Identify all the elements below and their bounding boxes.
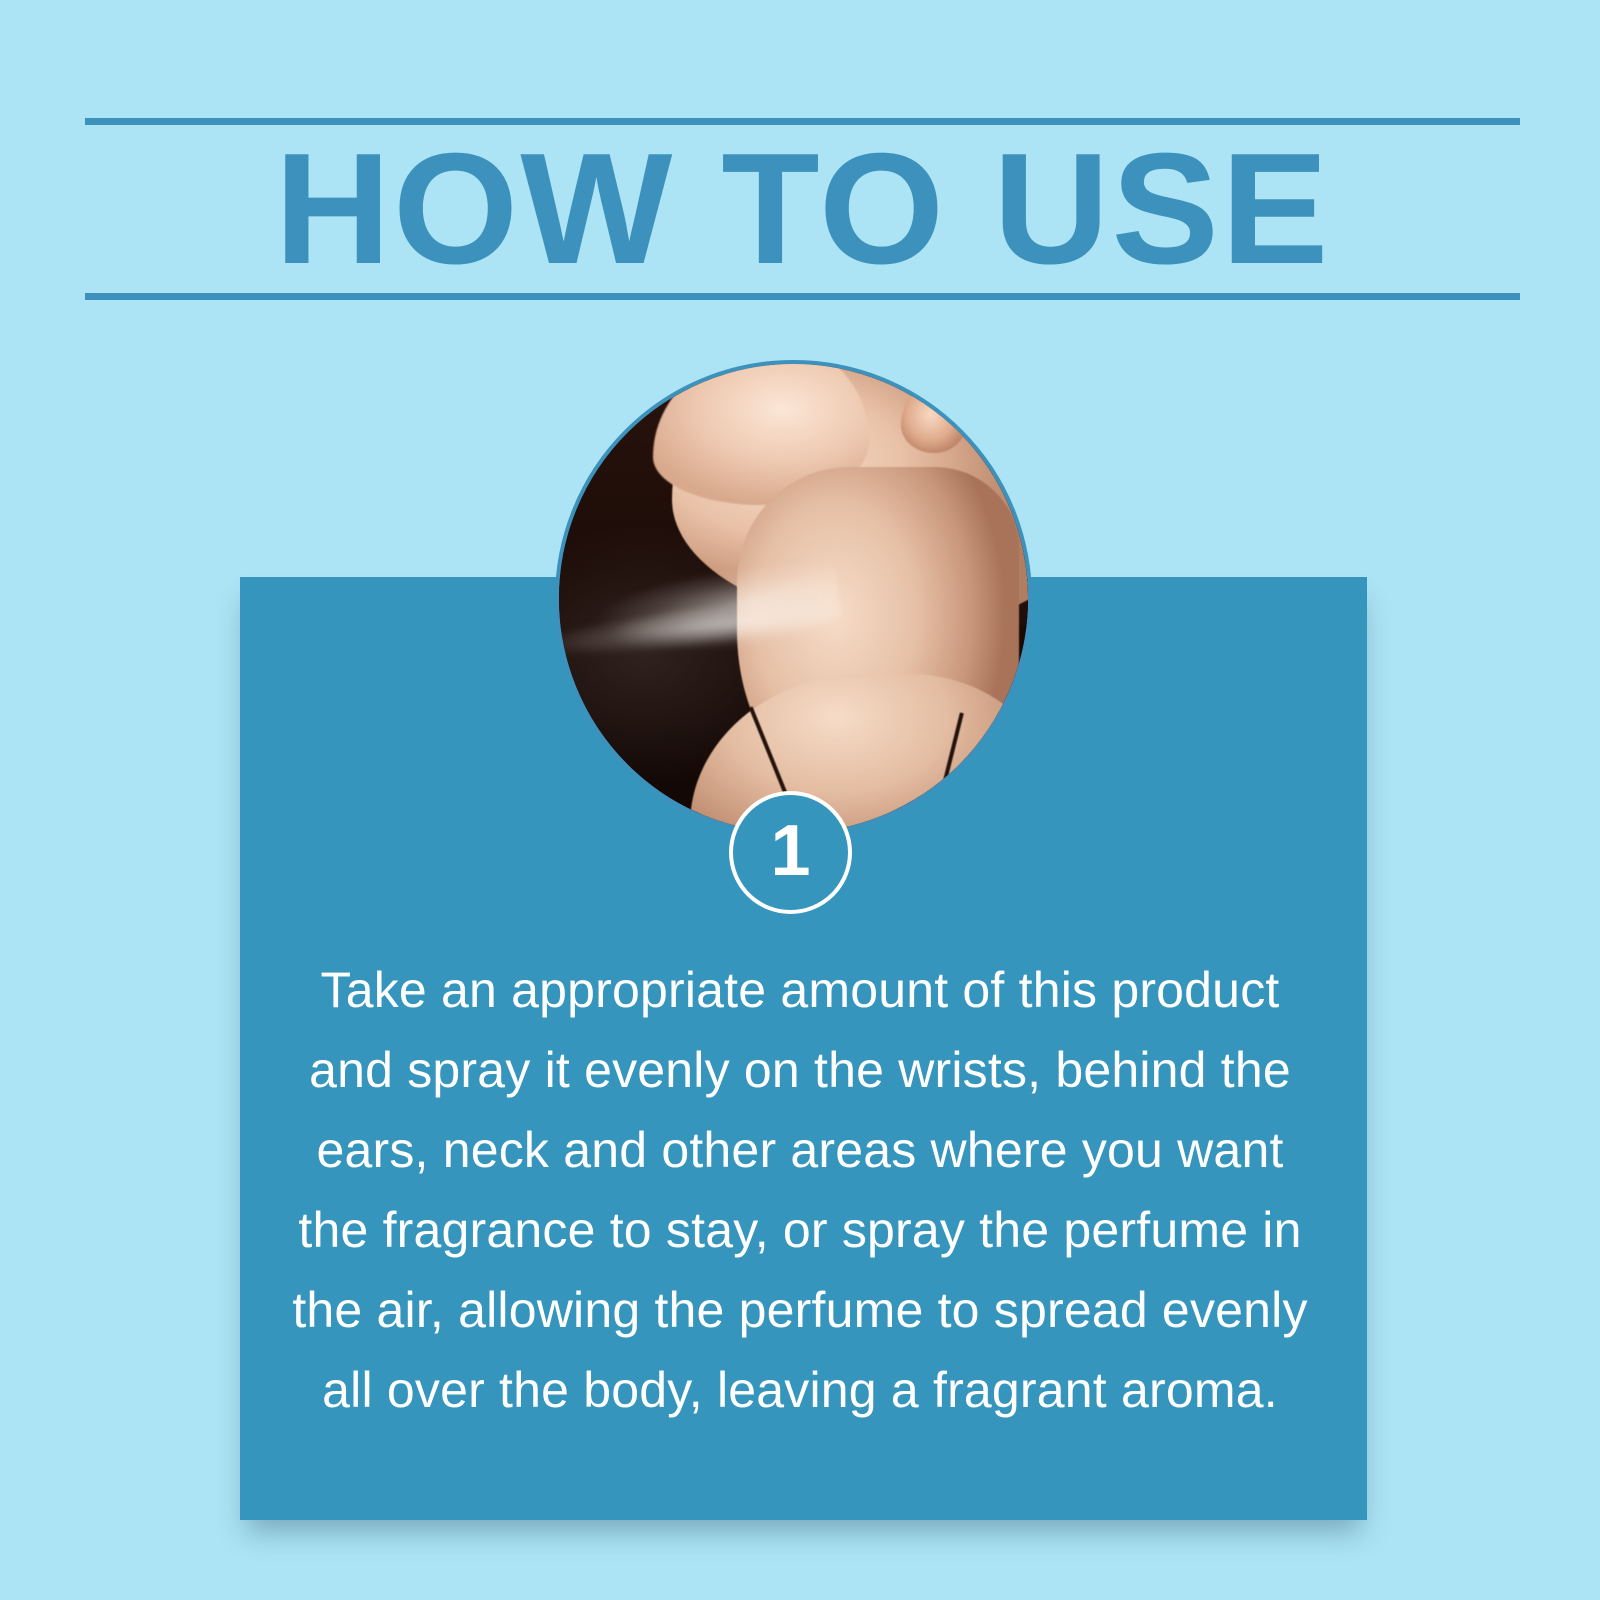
step-photo-circle (555, 360, 1032, 837)
shoulder-shape (690, 674, 1032, 837)
title-rule-bottom (85, 293, 1520, 300)
header-block: HOW TO USE (85, 118, 1520, 300)
perfume-spray-photo (559, 364, 1028, 833)
infographic-page: HOW TO USE 1 Take an appropriate amount … (0, 0, 1600, 1600)
step-number-badge: 1 (729, 791, 852, 914)
page-title: HOW TO USE (71, 124, 1535, 294)
step-description: Take an appropriate amount of this produ… (290, 950, 1310, 1430)
step-number-label: 1 (770, 815, 810, 887)
